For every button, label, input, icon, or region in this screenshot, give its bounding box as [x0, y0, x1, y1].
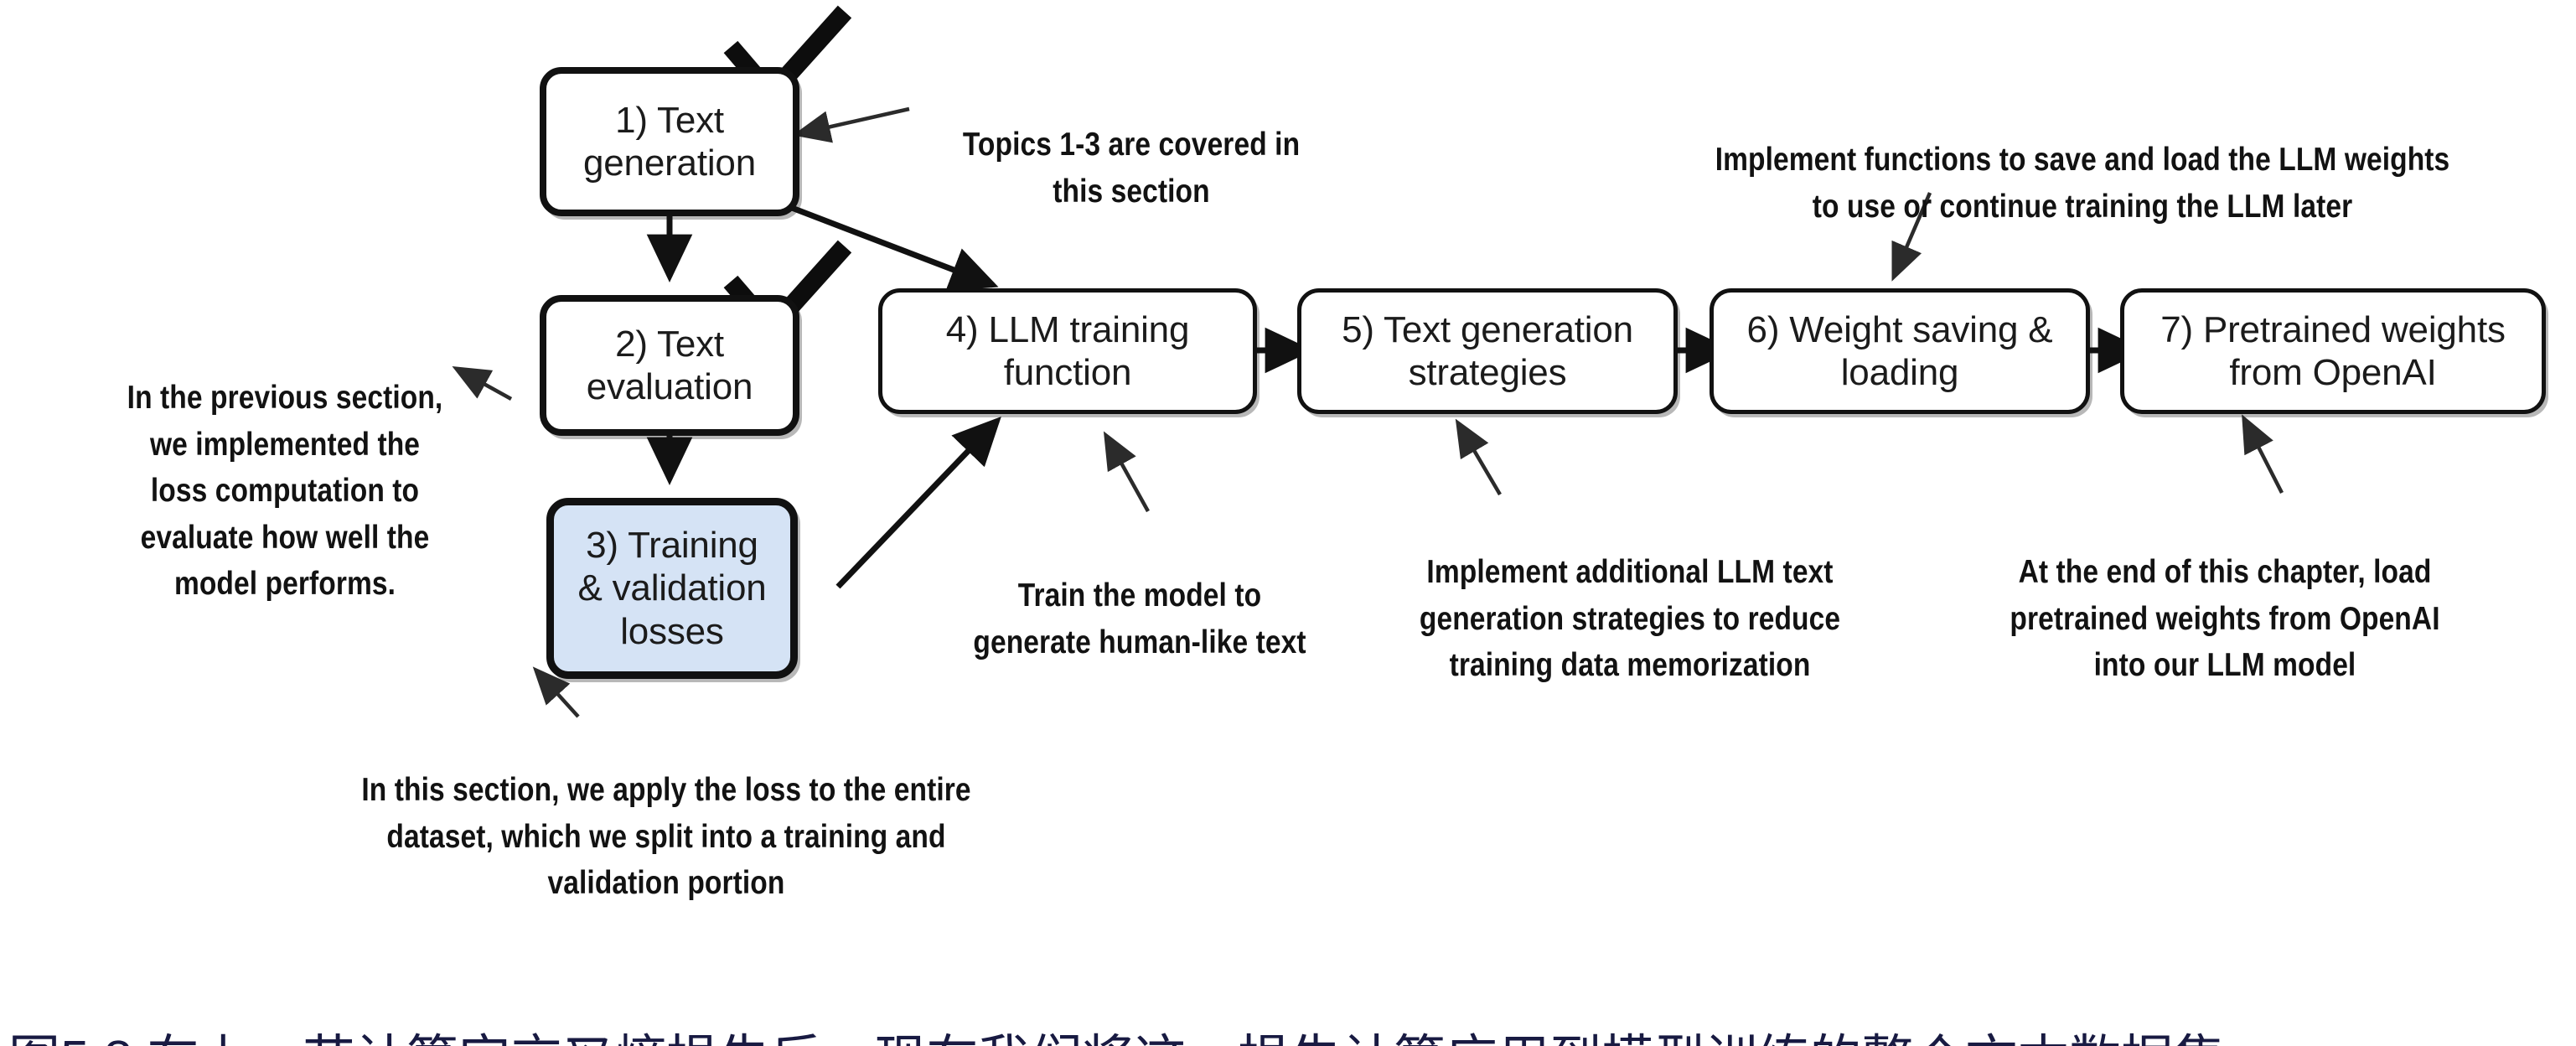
node-label: 5) Text generation strategies — [1332, 308, 1643, 394]
annotation-this-section: In this section, we apply the loss to th… — [331, 721, 1001, 907]
figure-canvas: 1) Text generation 2) Text evaluation 3)… — [0, 0, 2576, 1046]
annotation-save-load: Implement functions to save and load the… — [1700, 91, 2465, 230]
annotation-text: In this section, we apply the loss to th… — [361, 772, 970, 901]
leader-topics — [798, 109, 909, 134]
node-label: 1) Text generation — [573, 99, 766, 184]
figure-caption-text: 图5.8 在上一节计算完交叉熵损失后，现在我们将这一损失计算应用到模型训练的整个… — [8, 1031, 2277, 1046]
node-label: 7) Pretrained weights from OpenAI — [2150, 308, 2516, 394]
node-label: 4) LLM training function — [936, 308, 1199, 394]
node-pretrained-weights-openai[interactable]: 7) Pretrained weights from OpenAI — [2120, 288, 2546, 414]
node-label: 6) Weight saving & loading — [1737, 308, 2063, 394]
annotation-text: Implement functions to save and load the… — [1715, 142, 2450, 224]
node-text-evaluation[interactable]: 2) Text evaluation — [540, 295, 799, 436]
node-llm-training-function[interactable]: 4) LLM training function — [878, 288, 1257, 414]
annotation-text: Topics 1-3 are covered in this section — [963, 127, 1300, 209]
annotation-train-model: Train the model to generate human-like t… — [938, 526, 1342, 665]
node-weight-saving-loading[interactable]: 6) Weight saving & loading — [1710, 288, 2090, 414]
annotation-text: Implement additional LLM text generation… — [1420, 554, 1840, 683]
node-training-validation-losses[interactable]: 3) Training & validation losses — [546, 498, 798, 679]
leader-openai-weights — [2244, 419, 2282, 493]
figure-caption: 图5.8 在上一节计算完交叉熵损失后，现在我们将这一损失计算应用到模型训练的整个… — [8, 961, 2564, 1046]
annotation-text: At the end of this chapter, load pretrai… — [2010, 554, 2439, 683]
node-text-generation[interactable]: 1) Text generation — [540, 67, 799, 216]
annotation-topics: Topics 1-3 are covered in this section — [944, 75, 1318, 215]
leader-additional-strategies — [1458, 423, 1500, 495]
annotation-additional-strategies: Implement additional LLM text generation… — [1399, 503, 1860, 689]
annotation-openai-weights: At the end of this chapter, load pretrai… — [1994, 503, 2455, 689]
annotation-previous-section: In the previous section, we implemented … — [97, 329, 472, 607]
annotation-text: Train the model to generate human-like t… — [973, 577, 1306, 660]
node-label: 2) Text evaluation — [577, 323, 763, 408]
leader-train-model — [1106, 436, 1148, 511]
node-text-generation-strategies[interactable]: 5) Text generation strategies — [1297, 288, 1678, 414]
annotation-text: In the previous section, we implemented … — [127, 380, 443, 602]
node-label: 3) Training & validation losses — [567, 524, 776, 652]
